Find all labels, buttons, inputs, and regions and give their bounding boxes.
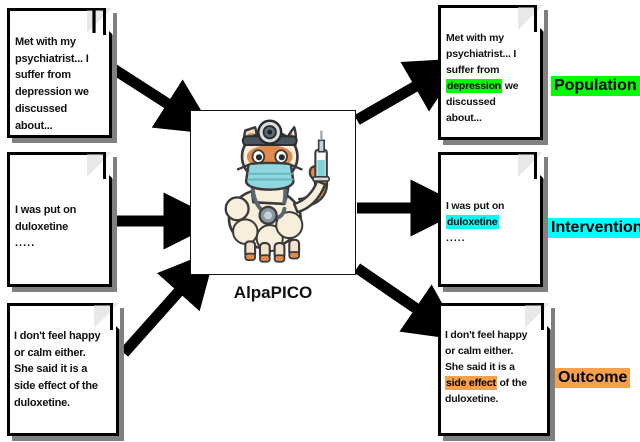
input-doc-3: I don't feel happy or calm either. She s… xyxy=(7,303,119,436)
doc-line: depression we xyxy=(15,84,110,101)
text-span: She said it is a xyxy=(445,361,515,373)
highlight-intervention: duloxetine xyxy=(446,215,499,229)
text-span: I was put on xyxy=(446,200,504,212)
input-doc-2: I was put on duloxetine ..... xyxy=(7,152,112,287)
doc-line: suffer from xyxy=(446,63,542,79)
doc-line: suffer from xyxy=(15,67,110,84)
doc-text: I was put on duloxetine ..... xyxy=(15,202,110,252)
doc-line: discussed xyxy=(446,95,542,111)
doc-line: ..... xyxy=(446,231,542,247)
input-doc-1: Met with my psychiatrist... I suffer fro… xyxy=(7,8,112,138)
doc-line: discussed xyxy=(15,101,110,118)
doc-line: I don't feel happy xyxy=(445,328,553,344)
doc-line: psychiatrist... I xyxy=(15,51,110,68)
diagram-canvas: Met with my psychiatrist... I suffer fro… xyxy=(0,0,640,442)
text-span: psychiatrist... I xyxy=(446,48,516,60)
doc-text: I don't feel happy or calm either. She s… xyxy=(14,328,122,412)
model-label: AlpaPICO xyxy=(190,283,356,303)
arrow-input-3 xyxy=(124,279,190,353)
text-span: duloxetine. xyxy=(445,393,498,405)
surgical-mask-icon xyxy=(246,163,293,190)
output-doc-population: Met with my psychiatrist... I suffer fro… xyxy=(438,5,543,140)
doc-fold-icon xyxy=(525,303,550,328)
output-doc-intervention: I was put on duloxetine ..... xyxy=(438,152,543,287)
doc-line: or calm either. xyxy=(14,345,122,362)
syringe-icon xyxy=(313,131,329,182)
doc-line: psychiatrist... I xyxy=(446,47,542,63)
doc-line: depression we xyxy=(446,79,542,95)
text-span: suffer from xyxy=(446,64,499,76)
text-span: we xyxy=(502,80,518,92)
arrow-input-1 xyxy=(112,68,182,113)
doc-text: Met with my psychiatrist... I suffer fro… xyxy=(446,31,542,127)
tag-outcome: Outcome xyxy=(555,368,630,388)
doc-line: I don't feel happy xyxy=(14,328,122,345)
doc-line: duloxetine xyxy=(15,219,110,236)
doc-line: duloxetine. xyxy=(445,392,553,408)
arrow-output-3 xyxy=(357,268,430,318)
model-box xyxy=(190,110,356,275)
doc-line: about... xyxy=(446,111,542,127)
text-span: discussed xyxy=(446,96,496,108)
doc-fold-icon xyxy=(518,152,543,177)
text-span: I don't feel happy xyxy=(445,329,527,341)
doc-text: Met with my psychiatrist... I suffer fro… xyxy=(15,34,110,134)
doc-line: side effect of the xyxy=(445,376,553,392)
text-span: about... xyxy=(446,112,482,124)
doc-fold-icon xyxy=(94,303,119,328)
doc-line: side effect of the xyxy=(14,378,122,395)
doc-line: or calm either. xyxy=(445,344,553,360)
tag-population: Population xyxy=(551,76,640,96)
output-doc-outcome: I don't feel happy or calm either. She s… xyxy=(438,303,550,436)
text-span: ..... xyxy=(446,232,466,244)
highlight-population: depression xyxy=(446,79,502,93)
doc-text: I don't feel happy or calm either. She s… xyxy=(445,328,553,408)
tag-intervention: Intervention xyxy=(548,218,640,238)
text-span: of the xyxy=(497,377,527,389)
doc-line: I was put on xyxy=(15,202,110,219)
doc-line: ..... xyxy=(15,235,110,252)
highlight-outcome: side effect xyxy=(445,376,497,390)
doc-line: about... xyxy=(15,118,110,135)
doc-line: She said it is a xyxy=(445,360,553,376)
doc-text: I was put on duloxetine ..... xyxy=(446,199,542,247)
alpaca-doctor-mascot-icon xyxy=(191,111,355,274)
doc-line: duloxetine xyxy=(446,215,542,231)
doc-fold-icon xyxy=(87,8,112,33)
doc-line: I was put on xyxy=(446,199,542,215)
doc-line: She said it is a xyxy=(14,361,122,378)
arrow-output-1 xyxy=(357,78,430,120)
text-span: or calm either. xyxy=(445,345,513,357)
doc-line: Met with my xyxy=(446,31,542,47)
doc-line: duloxetine. xyxy=(14,395,122,412)
text-span: Met with my xyxy=(446,32,504,44)
doc-line: Met with my xyxy=(15,34,110,51)
doc-fold-icon xyxy=(87,152,112,177)
doc-fold-icon xyxy=(518,5,543,30)
